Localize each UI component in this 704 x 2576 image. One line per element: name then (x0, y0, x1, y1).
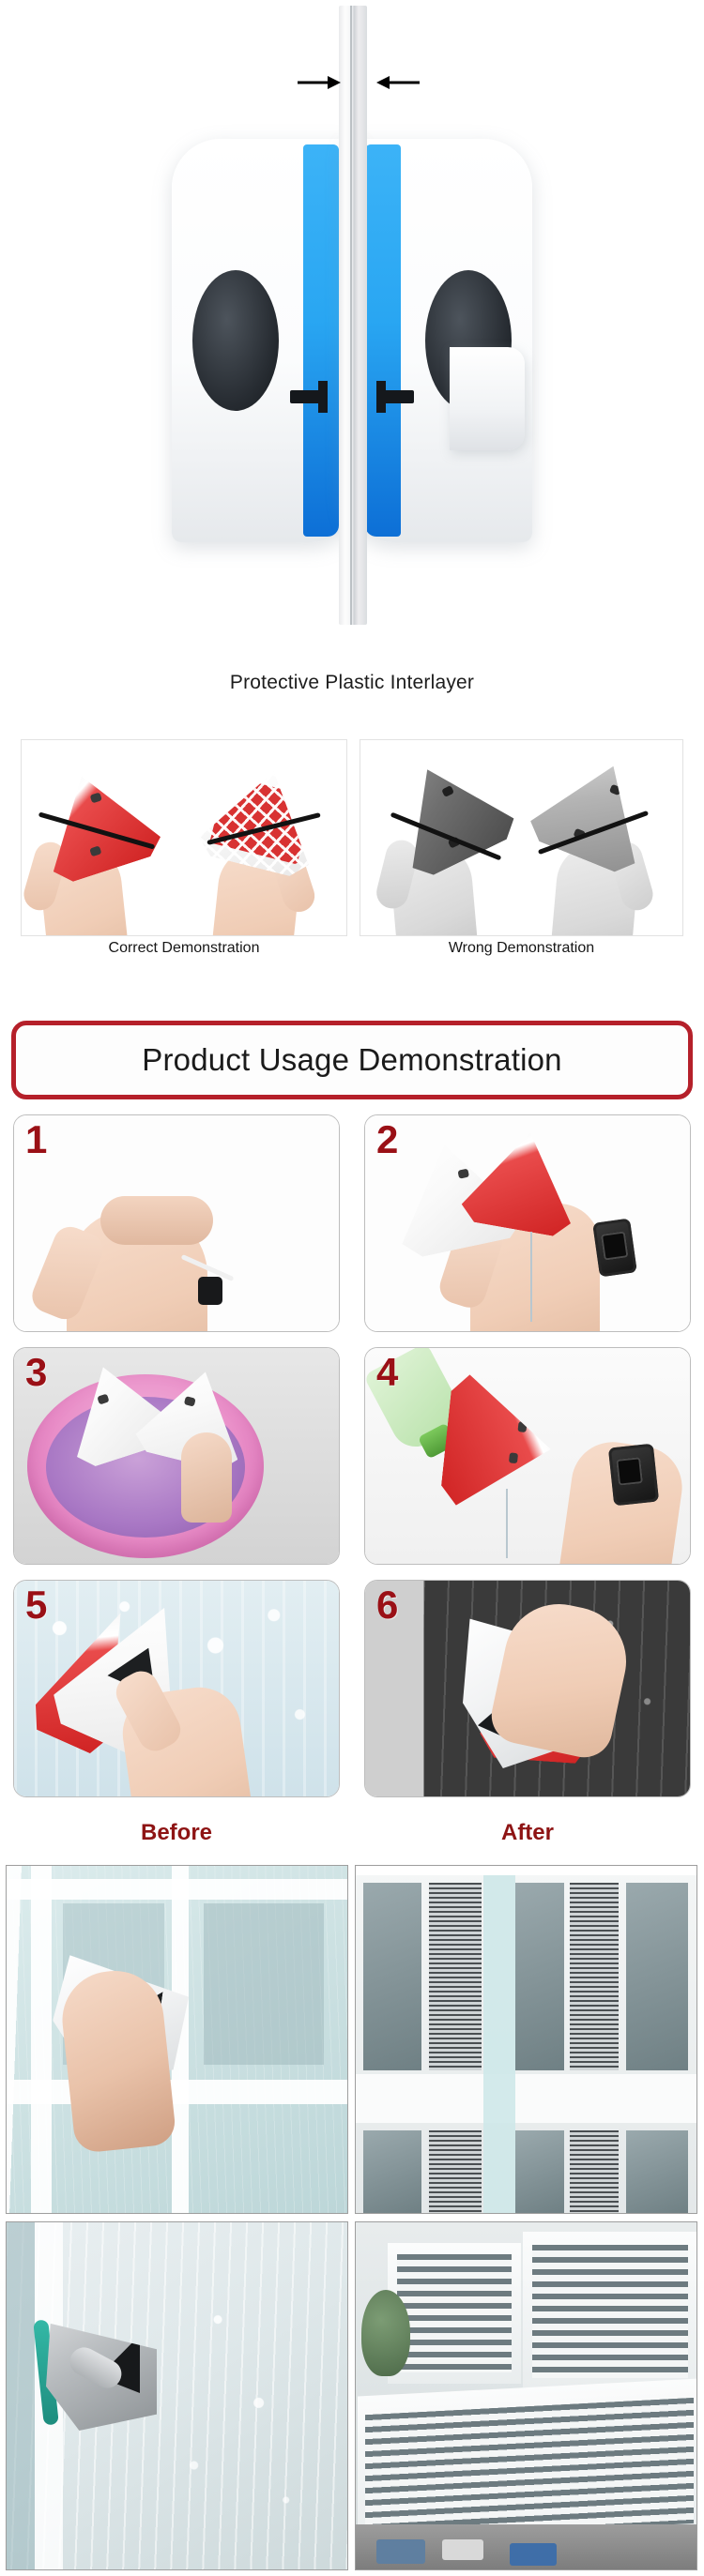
hero-caption: Protective Plastic Interlayer (0, 672, 704, 694)
step-number: 2 (376, 1117, 398, 1162)
step-number: 1 (25, 1117, 47, 1162)
usage-step-2: 2 (364, 1114, 691, 1332)
cleaner-side-tab (450, 347, 525, 450)
result-photo-top-right (355, 1865, 697, 2214)
hero-product-illustration (155, 0, 549, 657)
wrong-demonstration-image (360, 739, 683, 936)
step-number: 6 (376, 1583, 398, 1628)
wrong-demonstration-caption: Wrong Demonstration (360, 940, 683, 957)
cleaner-half-right (344, 139, 532, 542)
glass-pane-illustration (339, 6, 367, 625)
cleaner-half-left (172, 139, 360, 542)
correct-demonstration-image (21, 739, 347, 936)
arrow-right-glyph-icon (298, 73, 341, 92)
result-photo-bottom-right (355, 2221, 697, 2570)
before-label: Before (13, 1820, 340, 1846)
usage-banner-label: Product Usage Demonstration (142, 1042, 561, 1078)
result-photo-top-left (6, 1865, 348, 2214)
result-photo-grid (0, 1865, 704, 2574)
step-number: 3 (25, 1350, 47, 1395)
usage-banner: Product Usage Demonstration (11, 1021, 693, 1099)
hero-product-section: Protective Plastic Interlayer (0, 0, 704, 657)
demonstration-row (0, 739, 704, 936)
usage-steps-grid: 1 2 3 (0, 1114, 704, 1820)
step-number: 4 (376, 1350, 398, 1395)
result-photo-bottom-left (6, 2221, 348, 2570)
usage-step-6: 6 (364, 1580, 691, 1797)
usage-step-4: 4 (364, 1347, 691, 1565)
product-listing-page: Protective Plastic Interlayer (0, 0, 704, 2576)
after-label: After (364, 1820, 691, 1846)
arrow-left-glyph-icon (376, 73, 420, 92)
step-number: 5 (25, 1583, 47, 1628)
correct-demonstration-caption: Correct Demonstration (21, 940, 347, 957)
usage-step-5: 5 (13, 1580, 340, 1797)
usage-step-1: 1 (13, 1114, 340, 1332)
usage-step-3: 3 (13, 1347, 340, 1565)
